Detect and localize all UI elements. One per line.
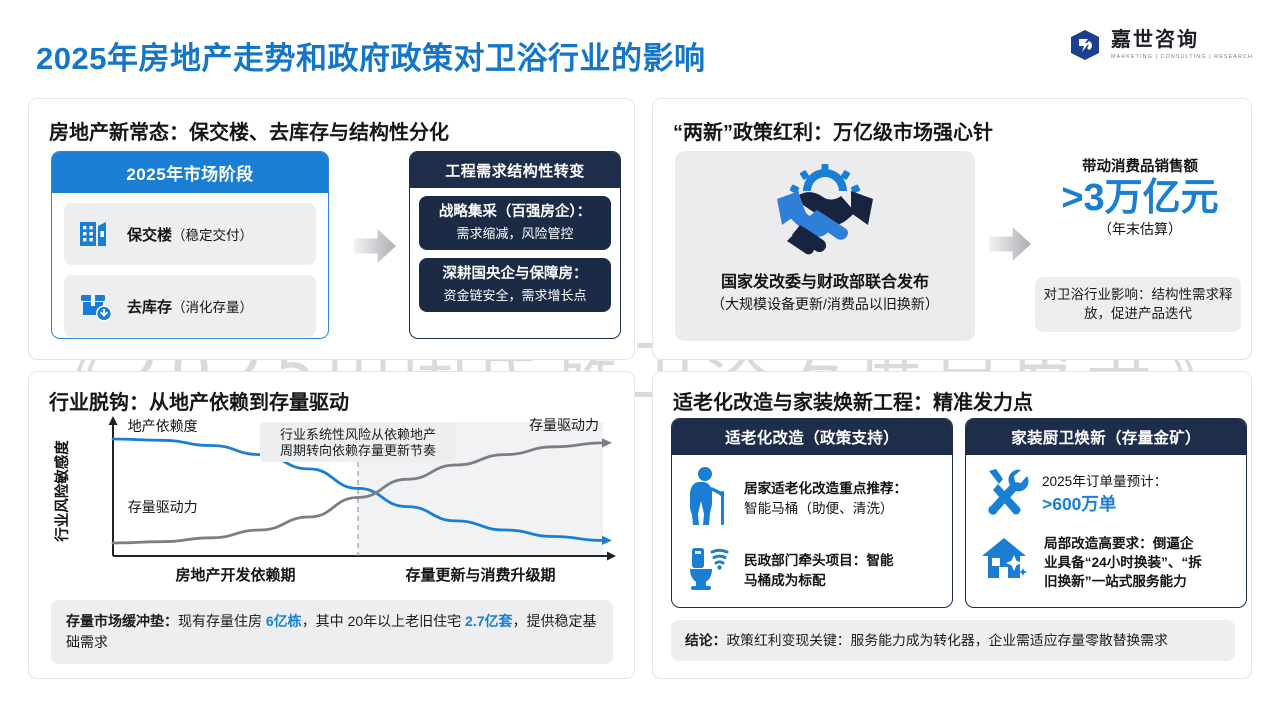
smart-toilet-icon xyxy=(686,542,732,599)
item-elderly-line1: 居家适老化改造重点推荐： xyxy=(744,481,907,496)
svg-text:存量更新与消费升级期: 存量更新与消费升级期 xyxy=(405,566,555,584)
item-order-forecast-text: 2025年订单量预计： >600万单 xyxy=(1042,472,1167,517)
buffer-value-2: 2.7亿套 xyxy=(465,613,512,629)
wrench-screwdriver-icon xyxy=(980,465,1030,524)
item-elderly-line2: 智能马桶（助便、清洗） xyxy=(744,501,894,516)
elderly-person-icon xyxy=(686,465,732,532)
item-toilet-line1: 民政部门牵头项目：智能 xyxy=(744,553,894,568)
item-local-line1: 局部改造高要求：倒逼企 xyxy=(1044,536,1194,551)
navy-row-0-line1: 战略集采（百强房企）： xyxy=(423,203,607,221)
navy-row-strategic-procurement[interactable]: 战略集采（百强房企）： 需求缩减，风险管控 xyxy=(419,196,611,250)
navy-row-soe-affordable-housing[interactable]: 深耕国央企与保障房： 资金链安全，需求增长点 xyxy=(419,258,611,312)
box-download-icon xyxy=(76,284,116,329)
stat-value: >3万亿元 xyxy=(1045,177,1235,220)
item-order-value: >600万单 xyxy=(1042,492,1167,517)
logo-company-name: 嘉世咨询 xyxy=(1111,30,1253,51)
svg-text:存量驱动力: 存量驱动力 xyxy=(128,499,198,515)
policy-issuer-subcaption: （大规模设备更新/消费品以旧换新） xyxy=(711,294,939,314)
logo-text: 嘉世咨询 MARKETING | CONSULTING | RESEARCH xyxy=(1111,30,1253,60)
item-local-renovation-demand[interactable]: 局部改造高要求：倒逼企 业具备“24小时换装”、“拆 旧换新”一站式服务能力 xyxy=(966,524,1246,591)
item-smart-toilet-standard[interactable]: 民政部门牵头项目：智能 马桶成为标配 xyxy=(672,532,952,599)
panel-two-new-policy: “两新”政策红利：万亿级市场强心针 xyxy=(652,98,1252,360)
buffer-t1: 现有存量住房 xyxy=(178,613,266,629)
arrow-right-icon xyxy=(989,227,1031,261)
svg-text:房地产开发依赖期: 房地产开发依赖期 xyxy=(175,566,295,584)
panel-title-bottom-left: 行业脱钩：从地产依赖到存量驱动 xyxy=(49,386,349,415)
row-destocking-label: 去库存（消化存量） xyxy=(127,296,253,317)
stat-lead-label: 带动消费品销售额 xyxy=(1045,155,1235,176)
panel-title-top-right: “两新”政策红利：万亿级市场强心针 xyxy=(673,116,993,145)
item-smart-toilet-text: 民政部门牵头项目：智能 马桶成为标配 xyxy=(744,551,894,589)
logo-tagline: MARKETING | CONSULTING | RESEARCH xyxy=(1111,54,1253,60)
item-local-line3: 旧换新”一站式服务能力 xyxy=(1044,574,1187,589)
item-elderly-renovation[interactable]: 居家适老化改造重点推荐： 智能马桶（助便、清洗） xyxy=(672,455,952,532)
card-home-kitchen-bath-renewal: 家装厨卫焕新（存量金矿） 2025年订单量预 xyxy=(965,418,1247,608)
svg-text:行业风险敏感度: 行业风险敏感度 xyxy=(53,440,71,543)
building-icon xyxy=(76,212,116,257)
card-aging-renovation: 适老化改造（政策支持） 居家适老化改造重点推荐： 智能马桶（助便、清洗） xyxy=(671,418,953,608)
item-order-forecast[interactable]: 2025年订单量预计： >600万单 xyxy=(966,455,1246,524)
row-destocking[interactable]: 去库存（消化存量） xyxy=(64,275,316,337)
conclusion-label: 结论： xyxy=(685,633,726,648)
svg-text:行业系统性风险从依赖地产: 行业系统性风险从依赖地产 xyxy=(280,427,436,442)
panel-title-top-left: 房地产新常态：保交楼、去库存与结构性分化 xyxy=(49,116,449,145)
navy-row-1-line2: 资金链安全，需求增长点 xyxy=(423,285,607,304)
decoupling-line-chart: 地产依赖度存量驱动力存量驱动力行业系统性风险从依赖地产周期转向依赖存量更新节奏行… xyxy=(41,416,625,592)
row-delivery-guarantee-label: 保交楼（稳定交付） xyxy=(127,224,253,245)
page-header: 2025年房地产走势和政府政策对卫浴行业的影响 嘉世咨询 MARKETING |… xyxy=(0,0,1280,92)
buffer-label: 存量市场缓冲垫： xyxy=(66,613,178,629)
page-title: 2025年房地产走势和政府政策对卫浴行业的影响 xyxy=(36,33,705,78)
conclusion-text: 政策红利变现关键：服务能力成为转化器，企业需适应存量零散替换需求 xyxy=(726,633,1168,648)
house-sparkle-icon xyxy=(980,535,1032,590)
policy-issuer-caption: 国家发改委与财政部联合发布 xyxy=(721,268,929,292)
card-home-renewal-header: 家装厨卫焕新（存量金矿） xyxy=(966,419,1246,455)
navy-row-0-line2: 需求缩减，风险管控 xyxy=(423,223,607,242)
panel-industry-decoupling: 行业脱钩：从地产依赖到存量驱动 地产依赖度存量驱动力存量驱动力行业系统性风险从依… xyxy=(28,371,635,679)
buffer-value-1: 6亿栋 xyxy=(266,613,302,629)
card-aging-renovation-header: 适老化改造（政策支持） xyxy=(672,419,952,455)
infographic-page: 《2025中国民族卫浴发展白皮书》 2025年房地产走势和政府政策对卫浴行业的影… xyxy=(0,0,1280,714)
card-engineering-demand-shift: 工程需求结构性转变 战略集采（百强房企）： 需求缩减，风险管控 深耕国央企与保障… xyxy=(409,151,621,339)
stat-sub-label: （年末估算） xyxy=(1045,219,1235,239)
item-local-line2: 业具备“24小时换装”、“拆 xyxy=(1044,555,1202,570)
svg-text:周期转向依赖存量更新节奏: 周期转向依赖存量更新节奏 xyxy=(280,443,436,458)
card-policy-issuer: 国家发改委与财政部联合发布 （大规模设备更新/消费品以旧换新） xyxy=(675,151,975,341)
stock-market-buffer-note: 存量市场缓冲垫：现有存量住房 6亿栋，其中 20年以上老旧住宅 2.7亿套，提供… xyxy=(51,600,613,664)
panel-aging-renovation: 适老化改造与家装焕新工程：精准发力点 适老化改造（政策支持） 居家适老化改造重点… xyxy=(652,371,1252,679)
buffer-t2: ，其中 20年以上老旧住宅 xyxy=(302,613,465,629)
stat-consumer-sales: 带动消费品销售额 >3万亿元 （年末估算） xyxy=(1045,155,1235,239)
note-bathroom-industry-impact: 对卫浴行业影响：结构性需求释放，促进产品迭代 xyxy=(1035,277,1241,332)
row-delivery-guarantee[interactable]: 保交楼（稳定交付） xyxy=(64,203,316,265)
svg-text:地产依赖度: 地产依赖度 xyxy=(128,418,198,434)
arrow-right-icon xyxy=(354,229,396,263)
jiashi-logo-icon xyxy=(1068,28,1102,62)
item-order-line1: 2025年订单量预计： xyxy=(1042,474,1167,489)
handshake-gear-icon xyxy=(763,163,887,264)
card-market-phase-header: 2025年市场阶段 xyxy=(52,152,328,193)
card-engineering-demand-header: 工程需求结构性转变 xyxy=(410,152,620,188)
item-local-renovation-text: 局部改造高要求：倒逼企 业具备“24小时换装”、“拆 旧换新”一站式服务能力 xyxy=(1044,534,1202,591)
item-toilet-line2: 马桶成为标配 xyxy=(744,573,826,588)
panel-title-bottom-right: 适老化改造与家装焕新工程：精准发力点 xyxy=(673,386,1033,415)
conclusion-note: 结论：政策红利变现关键：服务能力成为转化器，企业需适应存量零散替换需求 xyxy=(671,620,1235,661)
card-market-phase: 2025年市场阶段 保交楼（稳定交付） xyxy=(51,151,329,339)
svg-text:存量驱动力: 存量驱动力 xyxy=(529,417,599,433)
item-elderly-renovation-text: 居家适老化改造重点推荐： 智能马桶（助便、清洗） xyxy=(744,479,907,517)
navy-row-1-line1: 深耕国央企与保障房： xyxy=(423,265,607,283)
brand-logo: 嘉世咨询 MARKETING | CONSULTING | RESEARCH xyxy=(1068,28,1253,62)
panel-real-estate-new-normal: 房地产新常态：保交楼、去库存与结构性分化 2025年市场阶段 xyxy=(28,98,635,360)
